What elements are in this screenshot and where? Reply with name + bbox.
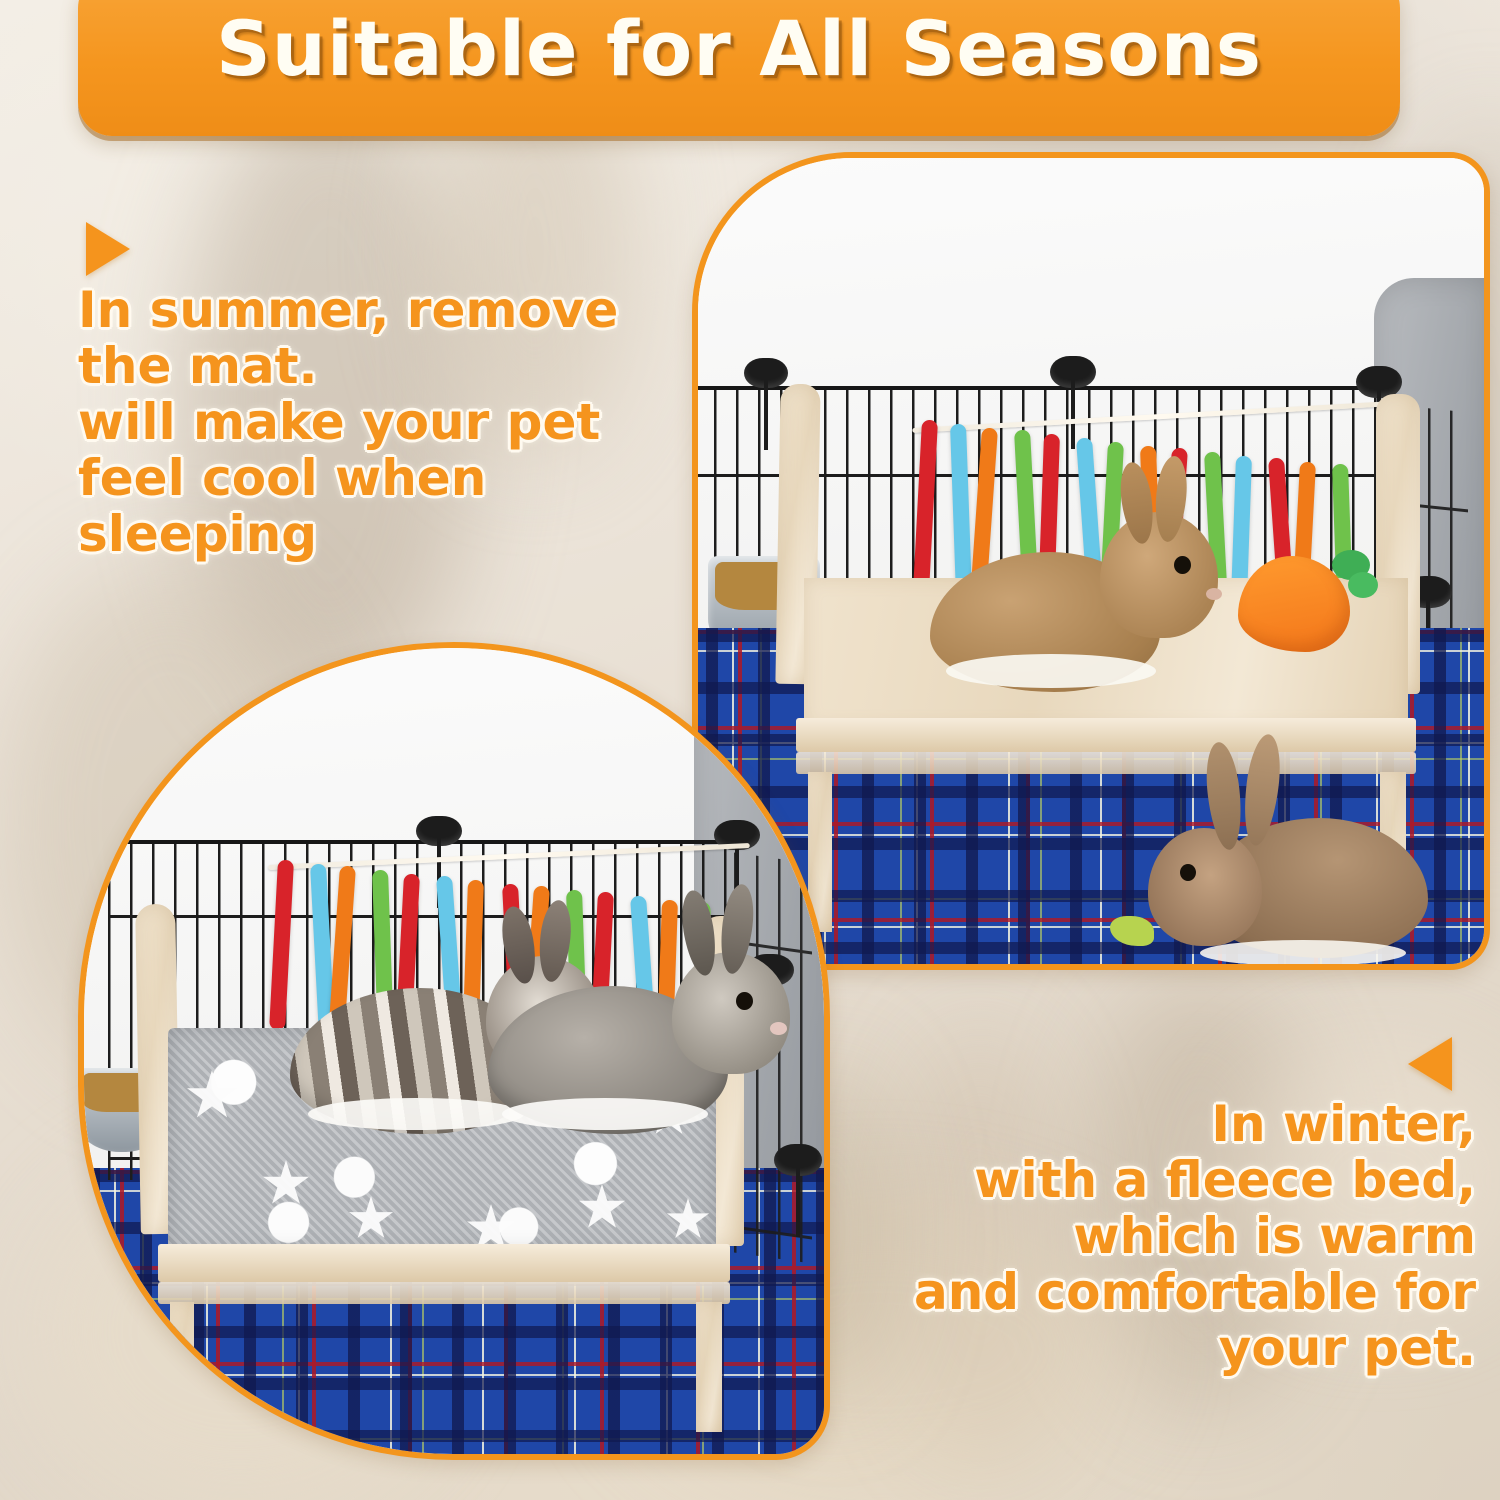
bed-lower-rail [158,1282,730,1304]
winter-callout-text: In winter, with a fleece bed, which is w… [760,1096,1476,1376]
playpen-connector-knob [416,816,462,846]
header-banner: Suitable for All Seasons [78,0,1400,136]
rabbit-on-bed [930,504,1220,694]
bed-leg [170,1302,194,1448]
rabbit-right-grey [488,920,788,1136]
playpen-connector-knob [744,358,788,388]
bed-front-rail [158,1244,730,1282]
summer-callout-text: In summer, remove the mat. will make you… [78,282,718,562]
winter-photo-panel [78,642,830,1460]
bed-front-rail [796,718,1416,752]
fleece-star [666,1198,710,1242]
fleece-star [262,1160,310,1208]
bed-leg [696,1302,722,1432]
fleece-star [578,1184,626,1232]
play-triangle-left-icon [1408,1037,1452,1091]
fleece-star [348,1196,394,1242]
page-title: Suitable for All Seasons [78,4,1400,93]
play-triangle-right-icon [86,222,130,276]
rabbit-under-bed [1142,766,1442,966]
carrot-leaf [1348,572,1378,598]
playpen-connector-knob [1050,356,1096,388]
fleece-star [186,1070,238,1122]
winter-callout: In winter, with a fleece bed, which is w… [760,1096,1476,1376]
summer-callout: In summer, remove the mat. will make you… [78,282,718,562]
